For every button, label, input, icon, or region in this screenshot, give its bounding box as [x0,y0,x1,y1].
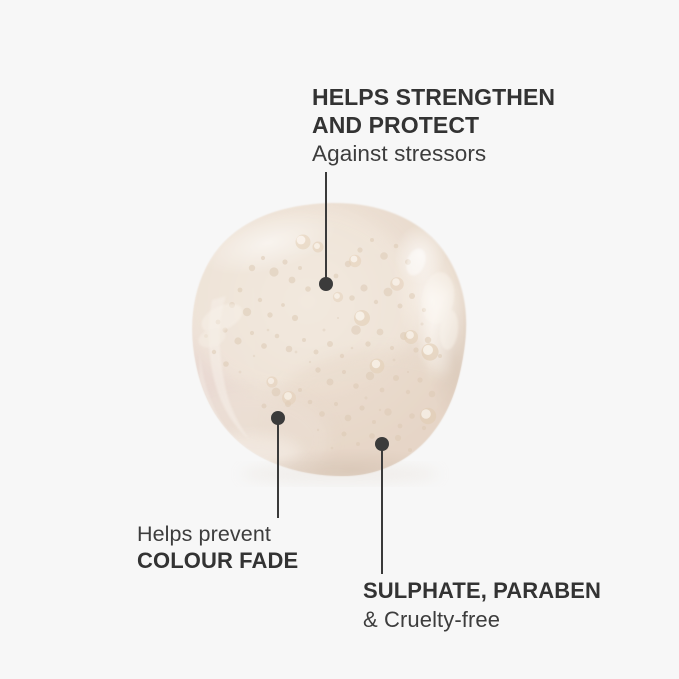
leader-line-top [325,172,327,284]
callout-sulphate-paraben: SULPHATE, PARABEN & Cruelty-free [363,578,601,634]
infographic-canvas: HELPS STRENGTHEN AND PROTECT Against str… [0,0,679,679]
leader-dot-bottom-right [375,437,389,451]
callout-top-line3: Against stressors [312,139,555,167]
callout-top-line1: HELPS STRENGTHEN [312,83,555,111]
leader-dot-top [319,277,333,291]
leader-line-bottom-right [381,444,383,574]
callout-bottom-right-line2: & Cruelty-free [363,605,601,634]
callout-top-line2: AND PROTECT [312,111,555,139]
leader-line-bottom-left [277,418,279,518]
callout-bottom-right-line1: SULPHATE, PARABEN [363,578,601,605]
callout-helps-strengthen: HELPS STRENGTHEN AND PROTECT Against str… [312,83,555,168]
callout-colour-fade: Helps prevent COLOUR FADE [137,521,298,575]
leader-dot-bottom-left [271,411,285,425]
callout-bottom-left-line1: Helps prevent [137,521,298,547]
callout-bottom-left-line2: COLOUR FADE [137,547,298,575]
